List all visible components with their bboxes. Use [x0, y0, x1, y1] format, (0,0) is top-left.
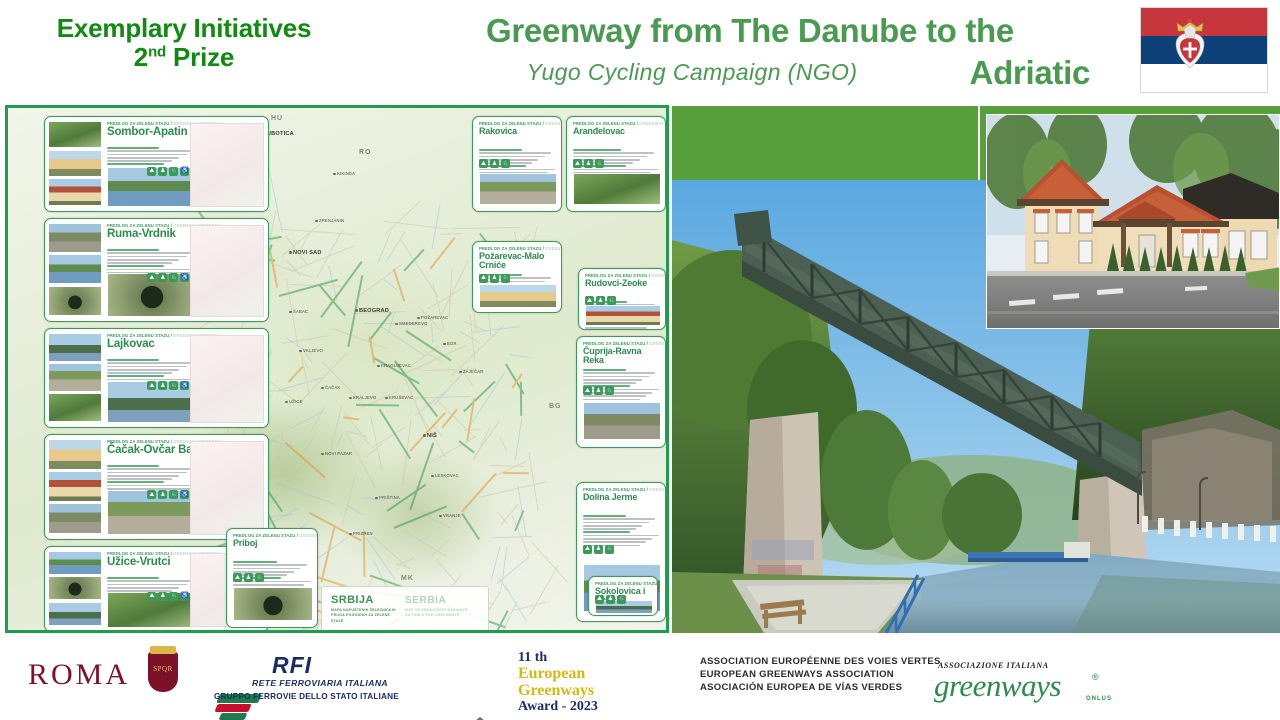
panel-activity-icon: ♟ — [584, 159, 593, 168]
panel-activity-icon: ♟ — [244, 573, 253, 582]
panel-title: Rudovci-Zeoke — [585, 279, 663, 288]
panel-text-line — [573, 156, 647, 158]
panel-title: Dolina Jerme — [583, 493, 663, 502]
panel-route-map — [190, 123, 264, 207]
panel-text-line — [107, 587, 179, 589]
panel-text-line — [233, 564, 307, 566]
panel-text-line — [573, 149, 621, 151]
panel-thumbnail — [48, 602, 102, 626]
map-line — [430, 323, 433, 342]
roma-shield-motto: SPQR — [148, 665, 178, 673]
map-line — [440, 233, 462, 235]
map-line — [241, 630, 260, 633]
panel-text-line — [585, 327, 647, 329]
panel-activity-icon: ♟ — [596, 296, 605, 305]
legend-subtitle-sr: MAPA NAPUŠTENIH ŽELEZNIČKIH PRUGA POGODN… — [331, 608, 397, 624]
panel-thumbnail — [48, 178, 102, 205]
panel-activity-icon: ♘ — [607, 296, 616, 305]
panel-head-en: GREENWAY PROPOSAL — [649, 341, 666, 346]
map-line — [437, 560, 458, 584]
map-city-label: LESKOVAC — [431, 473, 459, 478]
greenway-proposal-panel[interactable]: PREDLOG ZA ZELENU STAZU / GREENWAY PROPO… — [226, 528, 318, 628]
map-line — [405, 531, 446, 556]
panel-text-line — [107, 265, 164, 267]
panel-thumbnail — [48, 333, 102, 362]
panel-text-line — [583, 528, 636, 530]
map-city-label: PRIZREN — [349, 531, 373, 536]
panel-activity-icon: ⛰ — [147, 167, 156, 176]
map-line — [440, 261, 469, 319]
map-city-dot — [285, 401, 288, 404]
panel-text-line — [583, 535, 659, 537]
aig-wordmark: greenways — [934, 668, 1061, 704]
map-city-dot — [289, 251, 292, 254]
panel-text-line — [107, 160, 172, 162]
legend-title-sr: SRBIJA — [331, 594, 374, 606]
panel-text-line — [583, 541, 646, 543]
panel-text-line — [107, 465, 159, 467]
map-city-dot — [349, 397, 352, 400]
panel-text-line — [107, 150, 194, 152]
rfi-wordmark: RFI — [272, 652, 312, 679]
panel-head-en: GREENWAY PROPOSAL — [299, 533, 318, 538]
map-city-dot — [289, 311, 292, 314]
panel-head-en: GREENWAY PROPOSAL — [639, 121, 666, 126]
panel-text-line — [583, 518, 655, 520]
aig-registered-mark: ® — [1092, 672, 1099, 682]
map-city-dot — [375, 497, 378, 500]
panel-activity-icon: ♘ — [501, 274, 510, 283]
panel-text-line — [479, 149, 522, 151]
map-city-label: KRAGUJEVAC — [377, 363, 411, 368]
panel-photo — [585, 305, 661, 326]
award-line-2: European — [518, 665, 585, 683]
greenway-proposal-panel[interactable]: PREDLOG ZA ZELENU STAZU / GREENWAY PROPO… — [578, 268, 666, 330]
panel-text-line — [107, 485, 199, 487]
panel-text-line — [107, 359, 159, 361]
panel-title: Aranđelovac — [573, 127, 663, 136]
map-city-dot — [333, 173, 336, 176]
panel-photo — [583, 402, 661, 440]
map-city-dot — [459, 371, 462, 374]
panel-text-line — [107, 262, 172, 264]
map-city-label: ZAJEČAR — [459, 369, 483, 374]
panel-thumbnail — [48, 503, 102, 534]
panel-text-line — [479, 156, 545, 158]
map-line — [503, 472, 529, 474]
panel-activity-icon: ♿ — [180, 167, 189, 176]
panel-title: Požarevac-Malo Crniće — [479, 252, 559, 270]
panel-text-line — [479, 152, 551, 154]
greenway-proposal-panel[interactable]: PREDLOG ZA ZELENU STAZU / GREENWAY PROPO… — [44, 434, 269, 540]
fs-stripe-2 — [214, 704, 251, 712]
panel-activity-icon: ♘ — [169, 490, 178, 499]
roma-logo: ROMA — [28, 658, 130, 692]
map-line — [497, 556, 530, 584]
greenway-proposal-panel[interactable]: PREDLOG ZA ZELENU STAZU / GREENWAY PROPO… — [576, 336, 666, 448]
panel-activity-icon: ⛰ — [573, 159, 582, 168]
panel-text-line — [583, 382, 636, 384]
panel-thumbnail — [48, 363, 102, 392]
award-prize: 2nd Prize — [14, 43, 354, 72]
aevv-line-es: ASOCIACIÓN EUROPEA DE VÍAS VERDES — [700, 682, 941, 695]
map-line — [342, 474, 357, 526]
map-city-dot — [299, 350, 302, 353]
panel-activity-icon: ♘ — [605, 545, 614, 554]
map-line — [499, 436, 507, 451]
panel-photo — [233, 587, 313, 621]
map-line — [461, 473, 496, 512]
map-line — [270, 252, 278, 287]
panel-text-line — [107, 372, 172, 374]
map-city-label: BEOGRAD — [355, 308, 389, 314]
panel-activity-icon: ♘ — [595, 159, 604, 168]
panel-activity-icon: ♟ — [158, 273, 167, 282]
map-line — [510, 354, 530, 358]
award-prize-number: 2 — [134, 42, 148, 72]
award-title-line1: Exemplary Initiatives — [57, 13, 311, 43]
panel-thumbnail — [48, 393, 102, 422]
map-line — [333, 328, 387, 349]
panel-text-line — [583, 395, 646, 397]
greenway-proposal-panel[interactable]: PREDLOG ZA ZELENU STAZU / GREENWAY PROPO… — [588, 576, 658, 616]
map-line — [370, 336, 376, 362]
panel-text-line — [107, 475, 179, 477]
map-line — [283, 228, 354, 234]
panel-text-line — [107, 580, 194, 582]
slide-header: Exemplary Initiatives 2nd Prize Greenway… — [0, 0, 1280, 104]
panel-head-en: GREENWAY PROPOSAL — [545, 121, 562, 126]
serbia-flag-icon — [1140, 7, 1268, 93]
panel-activity-icon: ⛰ — [595, 595, 604, 604]
map-line — [268, 168, 282, 231]
panel-head-en: GREENWAY PROPOSAL — [545, 246, 562, 251]
award-prize-ordinal: nd — [148, 43, 166, 60]
map-line — [409, 412, 445, 452]
map-line — [490, 546, 500, 579]
map-city-label: KRALJEVO — [349, 395, 376, 400]
rfi-group-line: GRUPPO FERROVIE DELLO STATO ITALIANE — [214, 692, 399, 701]
panel-activity-icon: ♿ — [180, 273, 189, 282]
greenway-proposal-panel[interactable]: PREDLOG ZA ZELENU STAZU / GREENWAY PROPO… — [472, 116, 562, 212]
map-line — [500, 546, 507, 589]
panel-thumbnail — [48, 439, 102, 470]
map-legend: SRBIJA SERBIA MAPA NAPUŠTENIH ŽELEZNIČKI… — [321, 586, 489, 633]
panel-head-en: GREENWAY PROPOSAL — [651, 273, 666, 278]
panel-text-line — [583, 531, 630, 533]
map-line — [270, 461, 306, 503]
panel-text-line — [107, 256, 187, 258]
map-city-label: SMEDEREVO — [395, 321, 428, 326]
map-line — [530, 565, 559, 615]
map-city-dot — [377, 365, 380, 368]
panel-activity-icon: ♟ — [490, 159, 499, 168]
award-prize-word: Prize — [173, 42, 234, 72]
panel-title: Priboj — [233, 539, 315, 548]
legend-subtitle-en: MAP OF ABANDONED RAILWAYS SUITABLE FOR G… — [405, 608, 475, 619]
panel-text-line — [583, 399, 640, 401]
panel-text-line — [107, 157, 179, 159]
panel-route-map — [190, 441, 264, 535]
panel-text-line — [233, 568, 300, 570]
serbia-greenways-map-poster[interactable]: SUBOTICASOMBORKIKINDAZRENJANINNOVI SADBE… — [5, 105, 669, 633]
panel-text-line — [233, 571, 294, 573]
page-title-line1: Greenway from The Danube to the — [400, 10, 1100, 52]
map-line — [442, 630, 504, 632]
panel-activity-icon: ♟ — [594, 386, 603, 395]
map-line — [505, 364, 524, 394]
map-city-label: UŽICE — [285, 399, 303, 404]
panel-text-line — [107, 249, 159, 251]
map-city-dot — [385, 397, 388, 400]
map-line — [384, 201, 419, 235]
map-line — [379, 409, 411, 459]
panel-photo — [479, 173, 557, 206]
panel-head-en: GREENWAY PROPOSAL — [649, 487, 666, 492]
aevv-line-en: EUROPEAN GREENWAYS ASSOCIATION — [700, 669, 941, 682]
map-line — [279, 432, 284, 460]
map-line — [343, 410, 369, 444]
panel-text-line — [107, 472, 187, 474]
map-city-dot — [321, 453, 324, 456]
slide-root: Exemplary Initiatives 2nd Prize Greenway… — [0, 0, 1280, 720]
panel-thumbnail — [48, 576, 102, 600]
greenway-proposal-panel[interactable]: PREDLOG ZA ZELENU STAZU / GREENWAY PROPO… — [44, 218, 269, 322]
panel-activity-icon: ♟ — [606, 595, 615, 604]
roma-shield-icon: SPQR — [148, 652, 178, 692]
map-country-label: BG — [549, 403, 562, 410]
map-line — [384, 279, 398, 290]
panel-activity-icon: ♘ — [617, 595, 626, 604]
panel-activity-icon: ⛰ — [147, 273, 156, 282]
aevv-line-fr: ASSOCIATION EUROPÉENNE DES VOIES VERTES — [700, 656, 941, 669]
panel-text-line — [107, 468, 194, 470]
greenway-proposal-panel[interactable]: PREDLOG ZA ZELENU STAZU / GREENWAY PROPO… — [44, 116, 269, 212]
panel-thumbnail — [48, 471, 102, 502]
panel-activity-icon: ⛰ — [147, 490, 156, 499]
panel-thumbnail — [48, 121, 102, 148]
panel-activity-icon: ⛰ — [479, 274, 488, 283]
map-city-dot — [349, 533, 352, 536]
map-line — [404, 249, 425, 271]
map-city-label: ZRENJANIN — [315, 218, 344, 223]
map-line — [346, 433, 376, 489]
map-line — [501, 503, 519, 524]
panel-text-line — [107, 478, 172, 480]
panel-text-line — [107, 259, 179, 261]
map-city-dot — [443, 343, 446, 346]
panel-activity-icon: ⛰ — [585, 296, 594, 305]
band-divider — [978, 106, 980, 180]
panel-activity-icon: ⛰ — [583, 386, 592, 395]
panel-activity-icon: ♟ — [158, 490, 167, 499]
panel-thumbnail — [48, 223, 102, 253]
serbia-coat-of-arms-icon — [1170, 18, 1210, 82]
panel-text-line — [107, 269, 199, 271]
panel-description-text — [583, 515, 661, 548]
map-line — [515, 417, 523, 460]
map-city-label: ČAČAK — [321, 385, 340, 390]
panel-activity-icon: ♟ — [158, 592, 167, 601]
panel-text-line — [573, 169, 658, 171]
map-line — [394, 269, 406, 302]
panel-activity-icon: ♟ — [158, 167, 167, 176]
panel-text-line — [479, 169, 555, 171]
page-subtitle: Yugo Cycling Campaign (NGO) — [432, 59, 952, 86]
fs-stripe-3 — [219, 713, 248, 720]
map-line — [363, 531, 365, 577]
greenway-proposal-panel[interactable]: PREDLOG ZA ZELENU STAZU / GREENWAY PROPO… — [44, 328, 269, 428]
award-line-1: 11 th — [518, 650, 547, 666]
panel-activity-icon: ♿ — [180, 490, 189, 499]
panel-activity-icon: ⛰ — [583, 545, 592, 554]
map-line — [529, 452, 539, 511]
panel-route-map — [190, 335, 264, 423]
panel-activity-icon: ♟ — [594, 545, 603, 554]
map-city-label: KRUŠEVAC — [385, 395, 413, 400]
aevv-text-block: ASSOCIATION EUROPÉENNE DES VOIES VERTES … — [700, 656, 941, 694]
station-building-photo-art — [987, 115, 1280, 329]
panel-text-line — [107, 369, 179, 371]
map-city-dot — [395, 323, 398, 326]
panel-text-line — [583, 522, 649, 524]
panel-activity-icon: ♘ — [169, 381, 178, 390]
panel-activity-icon: ♘ — [169, 167, 178, 176]
panel-text-line — [583, 372, 655, 374]
greenway-proposal-panel[interactable]: PREDLOG ZA ZELENU STAZU / GREENWAY PROPO… — [566, 116, 666, 212]
panel-activity-icon: ♟ — [158, 381, 167, 390]
map-line — [352, 631, 379, 633]
panel-activity-icon: ⛰ — [147, 381, 156, 390]
panel-text-line — [107, 577, 159, 579]
legend-title-en: SERBIA — [405, 595, 446, 606]
map-city-dot — [423, 434, 426, 437]
map-line — [464, 429, 481, 431]
map-city-label: VALJEVO — [299, 348, 323, 353]
panel-activity-icon: ♘ — [169, 592, 178, 601]
panel-activity-icon: ♘ — [605, 386, 614, 395]
award-title: Exemplary Initiatives 2nd Prize — [14, 14, 354, 72]
panel-activity-icon: ♘ — [501, 159, 510, 168]
map-line — [269, 211, 276, 240]
panel-text-line — [107, 366, 187, 368]
panel-thumbnail — [48, 551, 102, 575]
map-city-label: NOVI PAZAR — [321, 451, 352, 456]
panel-activity-icon: ⛰ — [233, 573, 242, 582]
panel-activity-icon: ♿ — [180, 381, 189, 390]
aig-onlus-label: ONLUS — [1086, 696, 1112, 702]
map-line — [473, 426, 490, 461]
sponsor-logo-bar: ROMA SPQR RFI RETE FERROVIARIA ITALIANA … — [0, 638, 1280, 720]
map-line — [277, 483, 336, 505]
map-line — [492, 461, 526, 478]
map-city-dot — [431, 475, 434, 478]
map-line — [453, 227, 520, 229]
map-city-dot — [315, 220, 318, 223]
panel-photo — [479, 284, 557, 308]
map-line — [311, 406, 326, 432]
panel-text-line — [107, 362, 194, 364]
map-city-dot — [355, 309, 358, 312]
map-city-label: BOR — [443, 341, 457, 346]
station-building-photo — [986, 114, 1280, 329]
map-city-label: NOVI SAD — [289, 250, 322, 256]
panel-text-line — [583, 525, 642, 527]
map-line — [336, 433, 343, 446]
map-city-label: KIKINDA — [333, 171, 355, 176]
panel-activity-icon: ♘ — [255, 573, 264, 582]
panel-text-line — [107, 481, 164, 483]
panel-activity-icon: ⛰ — [147, 592, 156, 601]
panel-text-line — [107, 252, 194, 254]
map-line — [357, 264, 402, 298]
award-line-3: Greenways — [518, 682, 594, 700]
panel-text-line — [573, 152, 654, 154]
map-city-label: PRIŠTINA — [375, 495, 400, 500]
panel-text-line — [583, 379, 642, 381]
map-line — [461, 514, 479, 540]
panel-text-line — [583, 538, 652, 540]
panel-thumbnail — [48, 286, 102, 316]
map-city-dot — [417, 317, 420, 320]
map-country-label: RO — [359, 149, 372, 156]
panel-text-line — [583, 369, 626, 371]
panel-activity-icon: ♟ — [490, 274, 499, 283]
map-city-dot — [321, 387, 324, 390]
panel-text-line — [583, 515, 626, 517]
award-line-4: Award - 2023 — [518, 699, 598, 715]
panel-photo — [573, 173, 661, 206]
map-city-label: NIŠ — [423, 433, 437, 439]
map-line — [493, 536, 532, 538]
panel-text-line — [107, 147, 159, 149]
panel-text-line — [107, 154, 187, 156]
panel-text-line — [479, 281, 545, 283]
map-line — [473, 313, 477, 331]
rfi-subtitle: RETE FERROVIARIA ITALIANA — [252, 678, 388, 688]
map-line — [347, 505, 362, 515]
panel-thumbnail — [48, 150, 102, 177]
panel-activity-icon: ♘ — [169, 273, 178, 282]
map-country-label: HU — [271, 115, 283, 122]
panel-text-line — [107, 163, 164, 165]
panel-thumbnail — [48, 254, 102, 284]
panel-activity-icon: ⛰ — [479, 159, 488, 168]
panel-text-line — [233, 584, 304, 586]
map-city-label: POŽAREVAC — [417, 315, 448, 320]
roma-crown-icon — [150, 646, 176, 654]
map-city-label: VRANJE — [439, 513, 461, 518]
map-city-label: ŠABAC — [289, 309, 308, 314]
panel-title: Rakovica — [479, 127, 559, 136]
map-city-dot — [439, 515, 442, 518]
map-line — [410, 632, 441, 633]
map-line — [304, 434, 317, 453]
panel-text-line — [107, 375, 164, 377]
panel-text-line — [583, 376, 649, 378]
panel-text-line — [233, 561, 277, 563]
map-country-label: MK — [401, 575, 414, 582]
panel-title: Ćuprija-Ravna Reka — [583, 347, 663, 365]
panel-route-map — [190, 225, 264, 317]
panel-activity-icon: ♿ — [180, 592, 189, 601]
map-line — [288, 367, 303, 383]
greenway-proposal-panel[interactable]: PREDLOG ZA ZELENU STAZU / GREENWAY PROPO… — [472, 241, 562, 313]
panel-text-line — [107, 584, 187, 586]
